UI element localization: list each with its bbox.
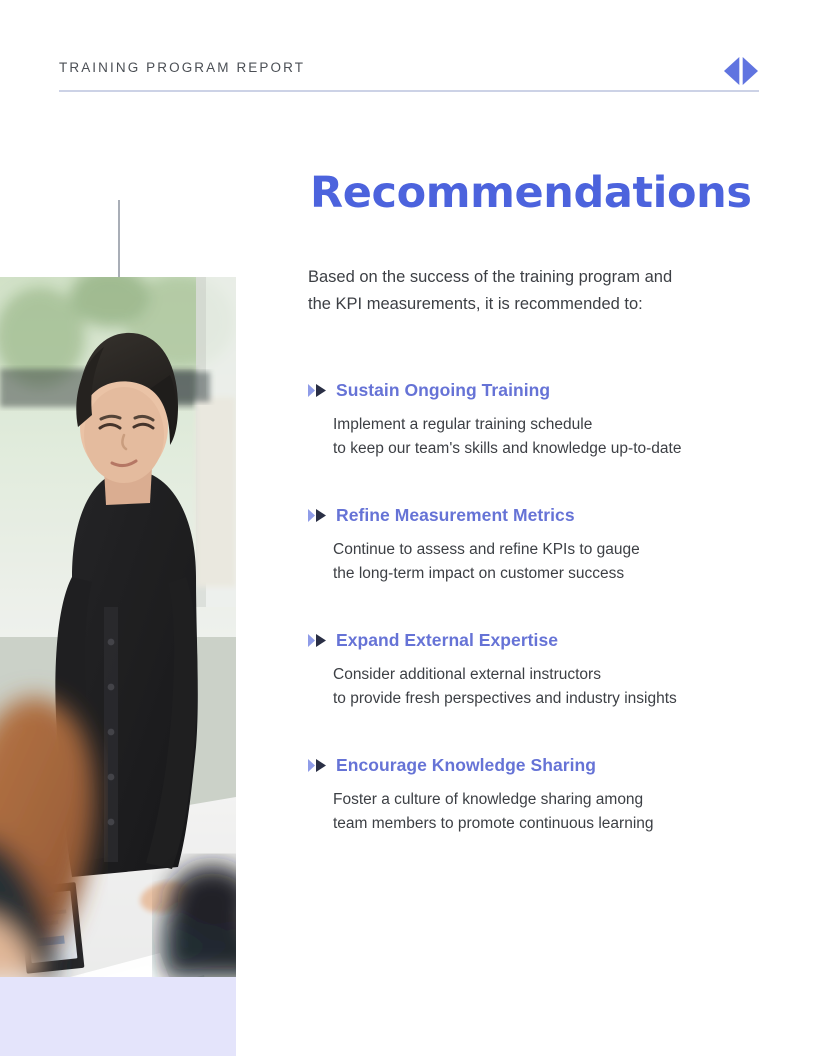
meeting-photo: [0, 277, 236, 977]
vertical-accent-line: [118, 200, 120, 277]
recommendation-title: Encourage Knowledge Sharing: [336, 755, 596, 776]
recommendation-header: Expand External Expertise: [308, 630, 778, 651]
recommendation-title: Sustain Ongoing Training: [336, 380, 550, 401]
split-diamond-logo-icon: [722, 56, 760, 86]
recommendation-body-line-2: team members to promote continuous learn…: [333, 812, 778, 836]
recommendation-body-line-2: to keep our team's skills and knowledge …: [333, 437, 778, 461]
recommendation-body-line-1: Implement a regular training schedule: [333, 413, 778, 437]
double-chevron-bullet-icon: [308, 383, 327, 398]
recommendation-item: Encourage Knowledge Sharing Foster a cul…: [308, 755, 778, 836]
recommendation-body: Continue to assess and refine KPIs to ga…: [333, 538, 778, 586]
recommendation-title: Refine Measurement Metrics: [336, 505, 575, 526]
report-kicker-label: TRAINING PROGRAM REPORT: [59, 60, 305, 75]
recommendation-body-line-2: to provide fresh perspectives and indust…: [333, 687, 778, 711]
recommendation-body: Consider additional external instructors…: [333, 663, 778, 711]
recommendation-header: Encourage Knowledge Sharing: [308, 755, 778, 776]
page-header: TRAINING PROGRAM REPORT: [0, 0, 816, 96]
recommendation-body-line-1: Consider additional external instructors: [333, 663, 778, 687]
intro-paragraph: Based on the success of the training pro…: [308, 264, 738, 318]
page-title: Recommendations: [310, 170, 778, 217]
double-chevron-bullet-icon: [308, 633, 327, 648]
recommendation-title: Expand External Expertise: [336, 630, 558, 651]
recommendation-body: Implement a regular training schedule to…: [333, 413, 778, 461]
recommendation-item: Sustain Ongoing Training Implement a reg…: [308, 380, 778, 461]
recommendation-item: Expand External Expertise Consider addit…: [308, 630, 778, 711]
recommendation-item: Refine Measurement Metrics Continue to a…: [308, 505, 778, 586]
intro-line-1: Based on the success of the training pro…: [308, 268, 672, 286]
lavender-footer-block: [0, 977, 236, 1056]
recommendation-header: Sustain Ongoing Training: [308, 380, 778, 401]
recommendation-body-line-1: Continue to assess and refine KPIs to ga…: [333, 538, 778, 562]
intro-line-2: the KPI measurements, it is recommended …: [308, 295, 643, 313]
recommendations-list: Sustain Ongoing Training Implement a reg…: [308, 380, 778, 836]
recommendation-body: Foster a culture of knowledge sharing am…: [333, 788, 778, 836]
double-chevron-bullet-icon: [308, 758, 327, 773]
recommendation-body-line-1: Foster a culture of knowledge sharing am…: [333, 788, 778, 812]
recommendation-header: Refine Measurement Metrics: [308, 505, 778, 526]
header-divider-rule: [59, 90, 759, 92]
double-chevron-bullet-icon: [308, 508, 327, 523]
main-content: Recommendations Based on the success of …: [308, 170, 778, 836]
recommendation-body-line-2: the long-term impact on customer success: [333, 562, 778, 586]
